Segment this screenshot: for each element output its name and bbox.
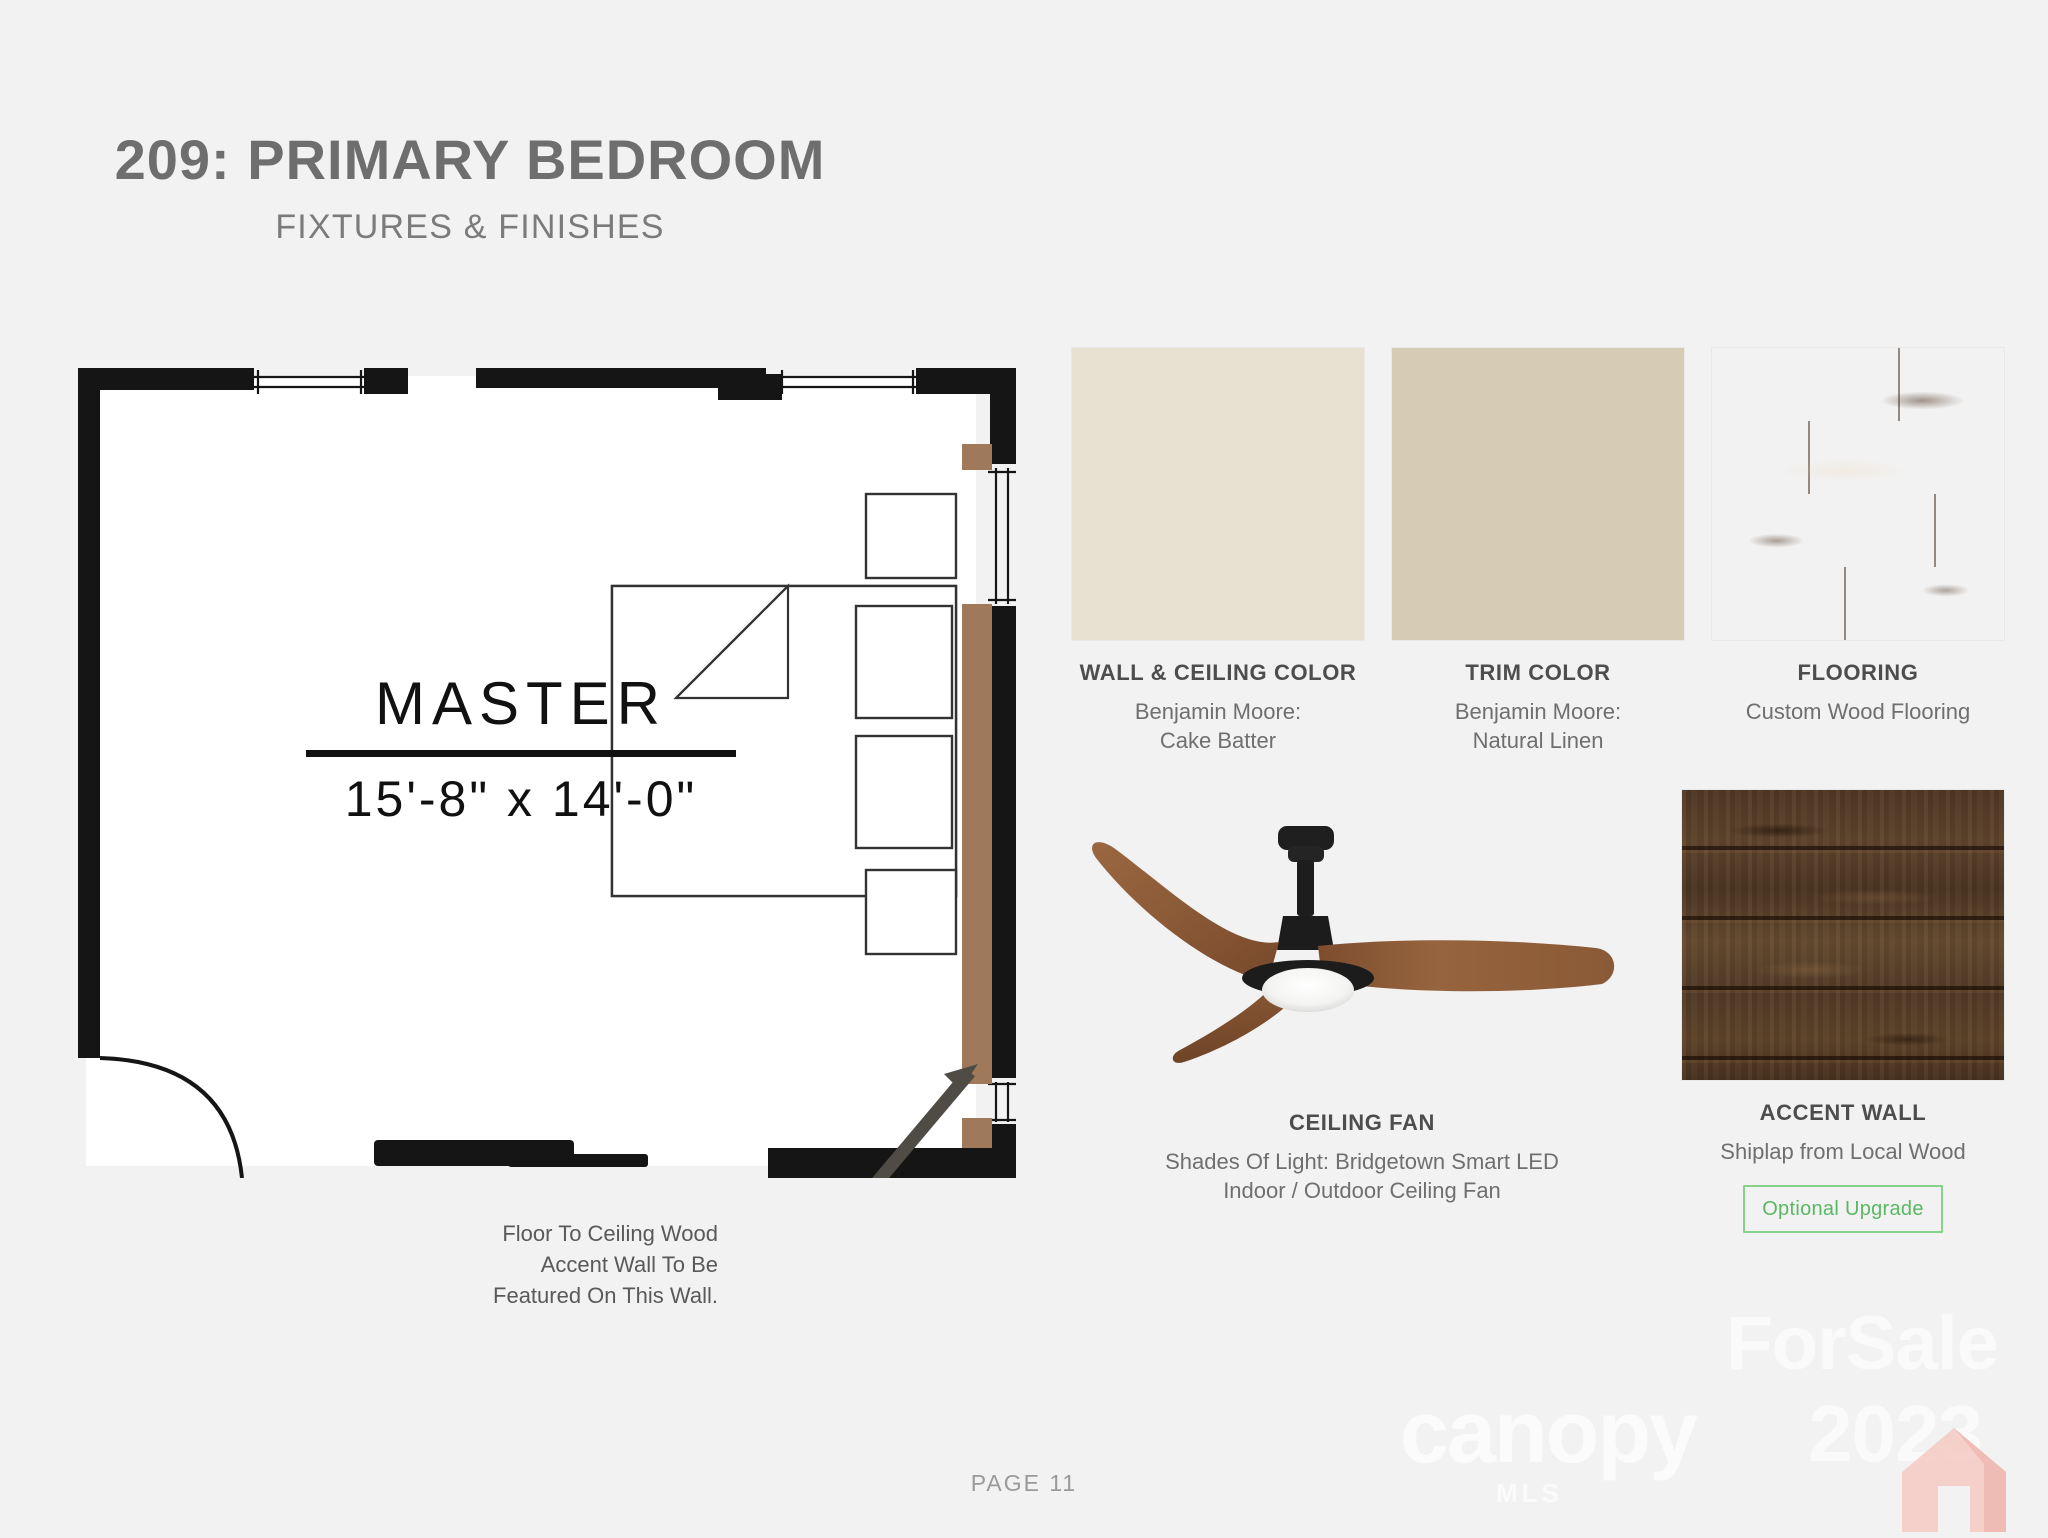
selection-card-trim-color[interactable]: TRIM COLOR Benjamin Moore: Natural Linen	[1392, 348, 1684, 755]
selection-detail: Benjamin Moore: Natural Linen	[1392, 697, 1684, 755]
wall-segment-top-left	[78, 368, 254, 390]
page-footer: PAGE 11	[0, 1470, 2048, 1497]
selection-title: FLOORING	[1712, 662, 2004, 684]
floor-plan-room-name: MASTER	[306, 674, 736, 734]
ceiling-fan-photo	[1072, 800, 1652, 1090]
accent-wall-callout-text: Floor To Ceiling Wood Accent Wall To Be …	[478, 1218, 718, 1311]
watermark-year-text: 2023	[1808, 1394, 1982, 1474]
furniture-nightstand-top	[866, 494, 956, 578]
wall-segment-left	[78, 368, 100, 1058]
accent-wall-marker-top	[962, 444, 992, 470]
selection-detail-line2: Indoor / Outdoor Ceiling Fan	[1223, 1178, 1501, 1203]
selection-detail: Custom Wood Flooring	[1712, 697, 2004, 726]
window-right-upper	[988, 468, 1016, 604]
watermark-brand-text: canopy	[1400, 1388, 1696, 1476]
selection-detail-line1: Shiplap from Local Wood	[1720, 1139, 1965, 1164]
furniture-pillow-2	[856, 736, 952, 848]
wall-pier-top-1	[364, 368, 408, 394]
selection-detail: Benjamin Moore: Cake Batter	[1072, 697, 1364, 755]
selection-detail-line1: Benjamin Moore:	[1135, 699, 1301, 724]
selection-card-ceiling-fan[interactable]: CEILING FAN Shades Of Light: Bridgetown …	[1072, 800, 1652, 1205]
fan-blade-left	[1092, 842, 1279, 982]
floor-plan: MASTER 15'-8" x 14'-0"	[78, 368, 1018, 1178]
floor-plan-name-underline	[306, 750, 736, 757]
paint-swatch-trim	[1392, 348, 1684, 640]
page-subtitle: FIXTURES & FINISHES	[0, 210, 940, 244]
wall-segment-right-mid	[990, 606, 1016, 1078]
selection-detail-line1: Benjamin Moore:	[1455, 699, 1621, 724]
fan-downrod	[1297, 860, 1314, 916]
page-header: 209: PRIMARY BEDROOM FIXTURES & FINISHES	[0, 132, 940, 244]
fan-led-light	[1262, 968, 1354, 1012]
wall-segment-right-top	[990, 368, 1016, 464]
selection-title: ACCENT WALL	[1682, 1102, 2004, 1124]
watermark-forsale-text: ForSale	[1726, 1306, 1998, 1382]
furniture-nightstand-bottom	[866, 870, 956, 954]
selection-card-flooring[interactable]: FLOORING Custom Wood Flooring	[1712, 348, 2004, 726]
selection-title: CEILING FAN	[1072, 1112, 1652, 1134]
selection-detail: Shades Of Light: Bridgetown Smart LED In…	[1072, 1147, 1652, 1205]
fan-motor-housing	[1277, 916, 1334, 950]
material-swatch-accent-wall	[1682, 790, 2004, 1080]
window-right-lower	[988, 1082, 1016, 1122]
selection-detail: Shiplap from Local Wood	[1682, 1137, 2004, 1166]
selection-detail-line1: Custom Wood Flooring	[1746, 699, 1971, 724]
floor-plan-dimensions: 15'-8" x 14'-0"	[256, 774, 786, 824]
wall-segment-bottom-thin	[508, 1154, 648, 1167]
ceiling-fan-illustration	[1072, 800, 1652, 1090]
optional-upgrade-badge[interactable]: Optional Upgrade	[1743, 1185, 1943, 1233]
accent-wall-marker-main	[962, 604, 992, 1084]
selection-title: WALL & CEILING COLOR	[1072, 662, 1364, 684]
selection-detail-line1: Shades Of Light: Bridgetown Smart LED	[1165, 1149, 1559, 1174]
furniture-pillow-1	[856, 606, 952, 718]
selection-card-wall-ceiling-color[interactable]: WALL & CEILING COLOR Benjamin Moore: Cak…	[1072, 348, 1364, 755]
selection-detail-line2: Natural Linen	[1473, 728, 1604, 753]
wall-pier-top-2	[718, 374, 782, 400]
mls-watermark: ForSale canopy 2023 MLS	[1400, 1302, 2040, 1532]
paint-swatch-wall-ceiling	[1072, 348, 1364, 640]
page-title: 209: PRIMARY BEDROOM	[0, 132, 940, 188]
material-swatch-flooring	[1712, 348, 2004, 640]
selection-title: TRIM COLOR	[1392, 662, 1684, 684]
selection-card-accent-wall[interactable]: ACCENT WALL Shiplap from Local Wood Opti…	[1682, 790, 2004, 1233]
selection-detail-line2: Cake Batter	[1160, 728, 1276, 753]
